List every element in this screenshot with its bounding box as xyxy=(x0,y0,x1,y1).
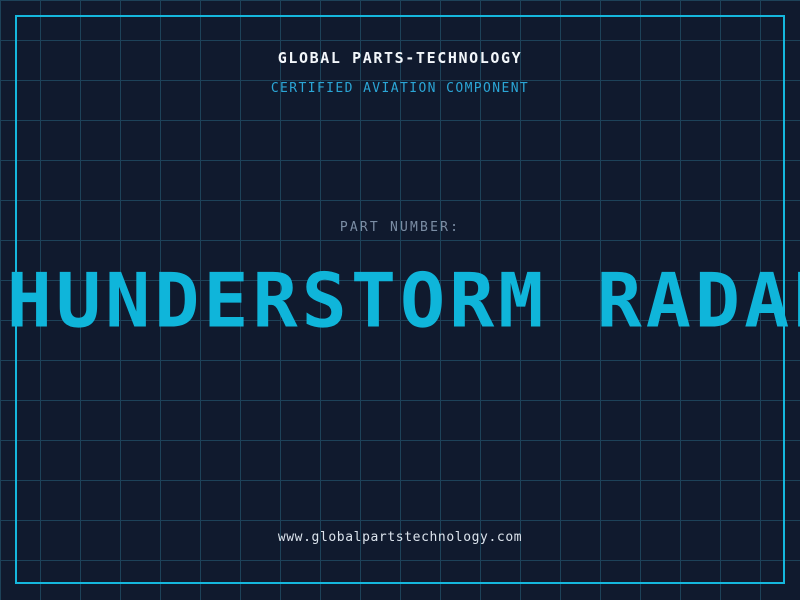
part-placard: GLOBAL PARTS-TECHNOLOGY CERTIFIED AVIATI… xyxy=(0,0,800,600)
part-number-display: THUNDERSTORM RADAR xyxy=(0,258,800,344)
placard-content: GLOBAL PARTS-TECHNOLOGY CERTIFIED AVIATI… xyxy=(0,0,800,600)
brand-title: GLOBAL PARTS-TECHNOLOGY xyxy=(0,49,800,67)
certification-subtitle: CERTIFIED AVIATION COMPONENT xyxy=(0,81,800,96)
part-number-label: PART NUMBER: xyxy=(0,220,800,235)
part-number-value: THUNDERSTORM RADAR xyxy=(0,264,800,339)
website-url: www.globalpartstechnology.com xyxy=(0,530,800,545)
